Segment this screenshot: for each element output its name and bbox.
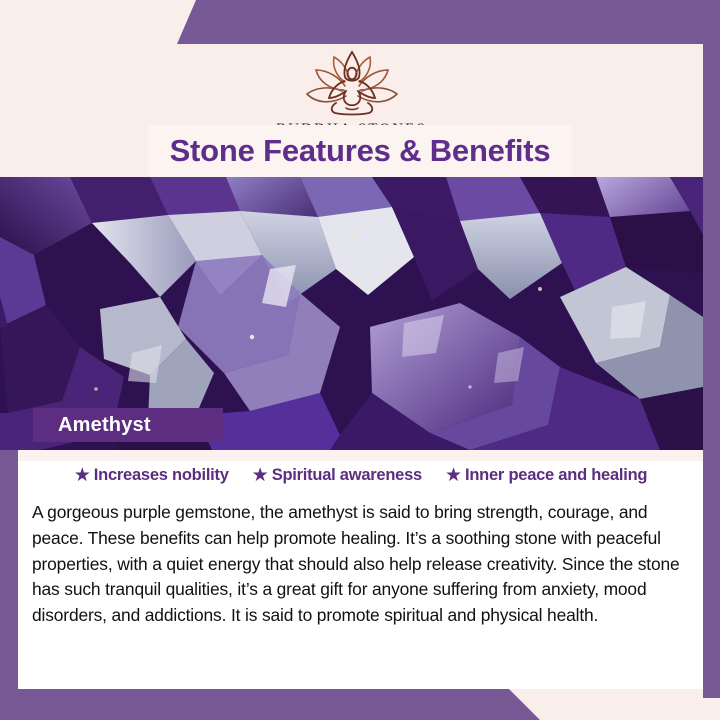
page-title: Stone Features & Benefits [170,133,551,169]
left-decorative-strip [0,450,18,689]
star-icon: ★ [445,466,462,485]
page-title-box: Stone Features & Benefits [148,125,572,177]
benefits-row: ★ Increases nobility ★ Spiritual awarene… [18,466,703,485]
benefit-item: ★ Inner peace and healing [445,466,647,485]
benefit-item: ★ Spiritual awareness [252,466,422,485]
star-icon: ★ [252,466,269,485]
content-panel: ★ Increases nobility ★ Spiritual awarene… [18,450,703,689]
star-icon: ★ [74,466,91,485]
stone-description: A gorgeous purple gemstone, the amethyst… [32,500,694,629]
benefit-label: Spiritual awareness [272,466,422,485]
benefit-label: Inner peace and healing [465,466,647,485]
lotus-meditation-figure-icon [289,46,415,118]
stone-name-banner: Amethyst [33,408,223,442]
top-decorative-band [0,0,720,44]
stone-name: Amethyst [33,414,151,437]
benefit-label: Increases nobility [94,466,229,485]
right-decorative-strip [703,44,720,698]
bottom-decorative-band [0,689,720,720]
infographic-page: BUDDHA STONES Stone Features & Benefits [0,0,720,720]
panel-top-shim [18,450,703,461]
benefit-item: ★ Increases nobility [74,466,229,485]
